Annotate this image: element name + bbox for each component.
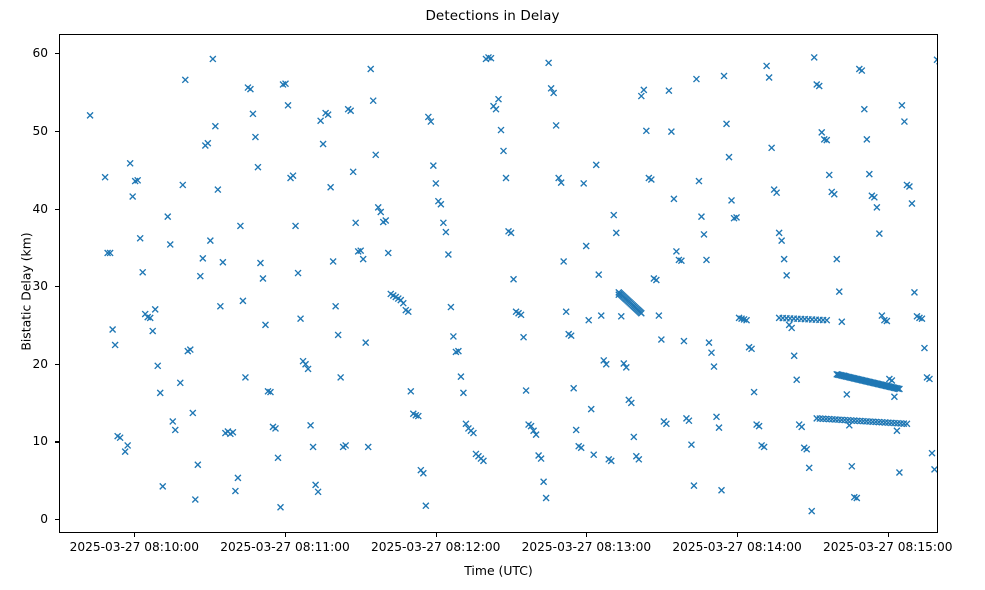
scatter-marker: [874, 204, 880, 210]
scatter-marker: [729, 197, 735, 203]
scatter-marker: [360, 256, 366, 262]
scatter-marker: [761, 444, 767, 450]
scatter-marker: [180, 182, 186, 188]
scatter-marker: [588, 406, 594, 412]
x-tick-mark: [285, 533, 286, 537]
scatter-marker: [586, 317, 592, 323]
scatter-marker: [693, 76, 699, 82]
scatter-marker: [315, 489, 321, 495]
scatter-marker: [247, 86, 253, 92]
scatter-marker: [698, 214, 704, 220]
scatter-marker: [220, 259, 226, 265]
scatter-marker: [498, 127, 504, 133]
scatter-marker: [365, 444, 371, 450]
y-tick-label: 0: [40, 512, 48, 526]
y-tick-label: 30: [32, 279, 48, 293]
scatter-marker: [568, 333, 574, 339]
scatter-marker: [405, 309, 411, 315]
scatter-marker: [553, 122, 559, 128]
scatter-marker: [636, 456, 642, 462]
scatter-marker: [215, 187, 221, 193]
scatter-marker: [581, 180, 587, 186]
scatter-marker: [140, 269, 146, 275]
scatter-marker: [458, 374, 464, 380]
scatter-marker: [563, 309, 569, 315]
scatter-marker: [836, 289, 842, 295]
scatter-marker: [518, 312, 524, 318]
x-tick-label: 2025-03-27 08:15:00: [823, 540, 952, 554]
scatter-marker: [876, 231, 882, 237]
scatter-marker: [130, 194, 136, 200]
scatter-marker: [503, 175, 509, 181]
scatter-marker: [373, 152, 379, 158]
scatter-marker: [255, 164, 261, 170]
scatter-marker: [137, 235, 143, 241]
scatter-marker: [182, 77, 188, 83]
scatter-marker: [706, 340, 712, 346]
scatter-marker: [766, 75, 772, 81]
scatter-marker: [593, 162, 599, 168]
scatter-marker: [408, 388, 414, 394]
y-tick-mark: [55, 364, 59, 365]
scatter-marker: [538, 456, 544, 462]
scatter-marker: [235, 475, 241, 481]
scatter-marker: [200, 255, 206, 261]
scatter-marker: [155, 363, 161, 369]
scatter-marker: [122, 449, 128, 455]
scatter-marker: [809, 508, 815, 514]
scatter-marker: [648, 177, 654, 183]
scatter-marker: [308, 422, 314, 428]
scatter-marker: [325, 112, 331, 118]
scatter-marker: [871, 194, 877, 200]
scatter-marker: [521, 334, 527, 340]
scatter-marker: [496, 96, 502, 102]
scatter-marker: [433, 180, 439, 186]
scatter-marker: [653, 277, 659, 283]
scatter-marker: [861, 106, 867, 112]
scatter-marker: [445, 252, 451, 258]
scatter-marker: [150, 328, 156, 334]
scatter-marker: [889, 378, 895, 384]
scatter-marker: [713, 414, 719, 420]
scatter-marker: [190, 410, 196, 416]
scatter-marker: [859, 68, 865, 74]
x-tick-label: 2025-03-27 08:10:00: [70, 540, 199, 554]
scatter-marker: [400, 300, 406, 306]
y-tick-mark: [55, 286, 59, 287]
scatter-marker: [711, 364, 717, 370]
scatter-marker: [353, 220, 359, 226]
scatter-marker: [909, 201, 915, 207]
scatter-marker: [578, 445, 584, 451]
scatter-marker: [290, 173, 296, 179]
scatter-marker: [668, 129, 674, 135]
scatter-marker: [839, 319, 845, 325]
y-tick-mark: [55, 53, 59, 54]
scatter-marker: [511, 276, 517, 282]
scatter-marker: [470, 430, 476, 436]
x-tick-mark: [586, 533, 587, 537]
scatter-marker: [363, 340, 369, 346]
scatter-marker: [804, 446, 810, 452]
scatter-marker: [546, 60, 552, 66]
scatter-marker: [230, 429, 236, 435]
scatter-marker: [666, 88, 672, 94]
scatter-marker: [313, 482, 319, 488]
scatter-marker: [598, 313, 604, 319]
scatter-marker: [596, 272, 602, 278]
scatter-marker: [370, 98, 376, 104]
scatter-marker: [320, 141, 326, 147]
scatter-marker: [110, 326, 116, 332]
y-tick-mark: [55, 209, 59, 210]
scatter-marker: [262, 322, 268, 328]
scatter-marker: [749, 346, 755, 352]
scatter-marker: [769, 145, 775, 151]
x-tick-mark: [134, 533, 135, 537]
scatter-marker: [112, 342, 118, 348]
scatter-marker: [335, 332, 341, 338]
scatter-marker: [260, 275, 266, 281]
scatter-marker: [310, 444, 316, 450]
y-tick-label: 40: [32, 202, 48, 216]
scatter-marker: [906, 184, 912, 190]
scatter-marker: [891, 394, 897, 400]
scatter-marker: [926, 376, 932, 382]
scatter-marker: [764, 63, 770, 69]
scatter-marker: [819, 129, 825, 135]
scatter-marker: [696, 178, 702, 184]
scatter-marker: [688, 442, 694, 448]
scatter-marker: [160, 483, 166, 489]
scatter-marker: [117, 435, 123, 441]
scatter-marker: [420, 470, 426, 476]
scatter-marker: [480, 458, 486, 464]
scatter-marker: [932, 466, 937, 472]
scatter-marker: [673, 248, 679, 254]
scatter-marker: [613, 230, 619, 236]
scatter-marker: [348, 108, 354, 114]
scatter-marker: [911, 289, 917, 295]
scatter-marker: [663, 421, 669, 427]
scatter-marker: [157, 390, 163, 396]
scatter-marker: [716, 425, 722, 431]
scatter-marker: [929, 450, 935, 456]
scatter-marker: [508, 230, 514, 236]
scatter-marker: [794, 377, 800, 383]
scatter-marker: [701, 231, 707, 237]
scatter-marker: [87, 112, 93, 118]
scatter-marker: [656, 313, 662, 319]
scatter-marker: [293, 223, 299, 229]
scatter-marker: [328, 184, 334, 190]
scatter-marker: [217, 303, 223, 309]
scatter-marker: [170, 418, 176, 424]
scatter-marker: [205, 140, 211, 146]
scatter-marker: [383, 218, 389, 224]
scatter-marker: [751, 389, 757, 395]
scatter-marker: [691, 483, 697, 489]
scatter-marker: [177, 380, 183, 386]
scatter-marker: [192, 497, 198, 503]
x-tick-mark: [888, 533, 889, 537]
x-tick-label: 2025-03-27 08:11:00: [220, 540, 349, 554]
scatter-marker: [102, 174, 108, 180]
scatter-marker: [899, 102, 905, 108]
scatter-marker: [172, 427, 178, 433]
scatter-plot-canvas: [60, 35, 937, 532]
scatter-marker: [831, 191, 837, 197]
chart-title: Detections in Delay: [0, 8, 985, 24]
scatter-marker: [285, 102, 291, 108]
scatter-marker: [724, 121, 730, 127]
scatter-marker: [443, 229, 449, 235]
scatter-marker: [543, 495, 549, 501]
x-tick-label: 2025-03-27 08:14:00: [672, 540, 801, 554]
scatter-marker: [611, 212, 617, 218]
y-tick-mark: [55, 519, 59, 520]
y-axis-label: Bistatic Delay (km): [19, 182, 34, 402]
scatter-marker: [195, 462, 201, 468]
scatter-marker: [343, 442, 349, 448]
scatter-marker: [501, 148, 507, 154]
scatter-marker: [806, 465, 812, 471]
scatter-marker: [440, 220, 446, 226]
scatter-marker: [811, 54, 817, 60]
scatter-marker: [784, 272, 790, 278]
scatter-marker: [212, 123, 218, 129]
x-tick-mark: [737, 533, 738, 537]
scatter-marker: [272, 425, 278, 431]
scatter-marker: [658, 337, 664, 343]
scatter-marker: [826, 172, 832, 178]
scatter-marker: [628, 400, 634, 406]
scatter-marker: [756, 423, 762, 429]
scatter-marker: [849, 463, 855, 469]
scatter-marker: [237, 223, 243, 229]
scatter-marker: [240, 298, 246, 304]
scatter-marker: [708, 350, 714, 356]
scatter-marker: [726, 154, 732, 160]
y-tick-label: 50: [32, 124, 48, 138]
scatter-marker: [583, 243, 589, 249]
scatter-marker: [232, 488, 238, 494]
scatter-marker: [791, 353, 797, 359]
x-tick-label: 2025-03-27 08:12:00: [371, 540, 500, 554]
scatter-marker: [591, 452, 597, 458]
scatter-marker: [152, 306, 158, 312]
scatter-marker: [901, 119, 907, 125]
scatter-marker: [438, 201, 444, 207]
scatter-marker: [934, 57, 937, 63]
scatter-marker: [866, 171, 872, 177]
scatter-marker: [278, 504, 284, 510]
scatter-marker: [671, 196, 677, 202]
x-tick-mark: [436, 533, 437, 537]
y-tick-label: 60: [32, 46, 48, 60]
scatter-marker: [368, 66, 374, 72]
y-tick-mark: [55, 441, 59, 442]
scatter-marker: [330, 258, 336, 264]
scatter-marker: [573, 427, 579, 433]
scatter-marker: [385, 250, 391, 256]
scatter-marker: [571, 385, 577, 391]
scatter-marker: [641, 87, 647, 93]
y-tick-label: 10: [32, 434, 48, 448]
scatter-marker: [295, 270, 301, 276]
scatter-marker: [275, 455, 281, 461]
scatter-marker: [824, 317, 830, 323]
scatter-marker: [165, 214, 171, 220]
scatter-marker: [789, 325, 795, 331]
scatter-marker: [318, 118, 324, 124]
scatter-marker: [125, 442, 131, 448]
scatter-marker: [448, 304, 454, 310]
scatter-marker: [541, 479, 547, 485]
scatter-marker: [896, 469, 902, 475]
scatter-marker: [844, 391, 850, 397]
plot-axes-area[interactable]: [59, 34, 938, 533]
y-tick-label: 20: [32, 357, 48, 371]
scatter-marker: [686, 418, 692, 424]
scatter-marker: [338, 374, 344, 380]
scatter-marker: [779, 238, 785, 244]
scatter-marker: [921, 345, 927, 351]
scatter-marker: [460, 390, 466, 396]
y-tick-mark: [55, 131, 59, 132]
scatter-marker: [774, 190, 780, 196]
scatter-marker: [721, 73, 727, 79]
scatter-marker: [608, 458, 614, 464]
scatter-marker: [834, 256, 840, 262]
scatter-marker: [493, 106, 499, 112]
x-axis-label: Time (UTC): [59, 563, 938, 578]
scatter-marker: [250, 111, 256, 117]
scatter-marker: [776, 230, 782, 236]
scatter-marker: [430, 163, 436, 169]
scatter-marker: [298, 316, 304, 322]
scatter-marker: [864, 136, 870, 142]
scatter-marker: [197, 273, 203, 279]
scatter-marker: [816, 83, 822, 89]
scatter-marker: [350, 169, 356, 175]
scatter-marker: [719, 487, 725, 493]
scatter-marker: [210, 56, 216, 62]
scatter-marker: [423, 503, 429, 509]
scatter-marker: [781, 256, 787, 262]
scatter-marker: [252, 134, 258, 140]
scatter-marker: [333, 303, 339, 309]
scatter-marker: [450, 333, 456, 339]
scatter-marker: [618, 313, 624, 319]
scatter-marker: [561, 258, 567, 264]
scatter-marker: [127, 160, 133, 166]
scatter-marker: [242, 374, 248, 380]
matplotlib-figure: Detections in Delay 0102030405060 2025-0…: [0, 0, 985, 590]
scatter-marker: [167, 241, 173, 247]
scatter-marker: [257, 260, 263, 266]
x-tick-label: 2025-03-27 08:13:00: [522, 540, 651, 554]
scatter-marker: [638, 93, 644, 99]
scatter-marker: [523, 388, 529, 394]
scatter-marker: [894, 428, 900, 434]
scatter-marker: [799, 424, 805, 430]
scatter-marker: [207, 238, 213, 244]
scatter-marker: [187, 347, 193, 353]
scatter-marker: [643, 128, 649, 134]
scatter-marker: [631, 434, 637, 440]
scatter-marker: [681, 338, 687, 344]
scatter-marker: [703, 257, 709, 263]
scatter-marker-group: [87, 54, 937, 514]
